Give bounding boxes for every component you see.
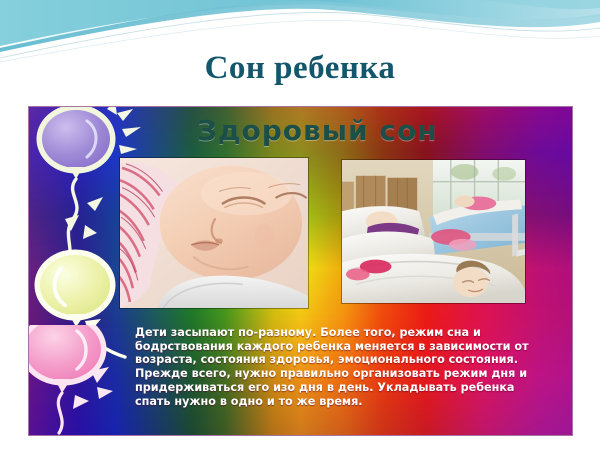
- page-title: Сон ребенка: [0, 50, 600, 87]
- photo-sleeping-baby: [119, 157, 309, 309]
- poster-paragraph-1: Дети засыпают по-разному. Более того, ре…: [135, 326, 529, 367]
- poster-heading: Здоровый сон: [197, 114, 438, 147]
- poster-body-text: Дети засыпают по-разному. Более того, ре…: [135, 312, 553, 422]
- poster-paragraph-2: Прежде всего, нужно правильно организова…: [135, 367, 553, 408]
- photo-children-napping: [341, 159, 526, 304]
- poster-panel: Здоровый сон: [28, 106, 573, 436]
